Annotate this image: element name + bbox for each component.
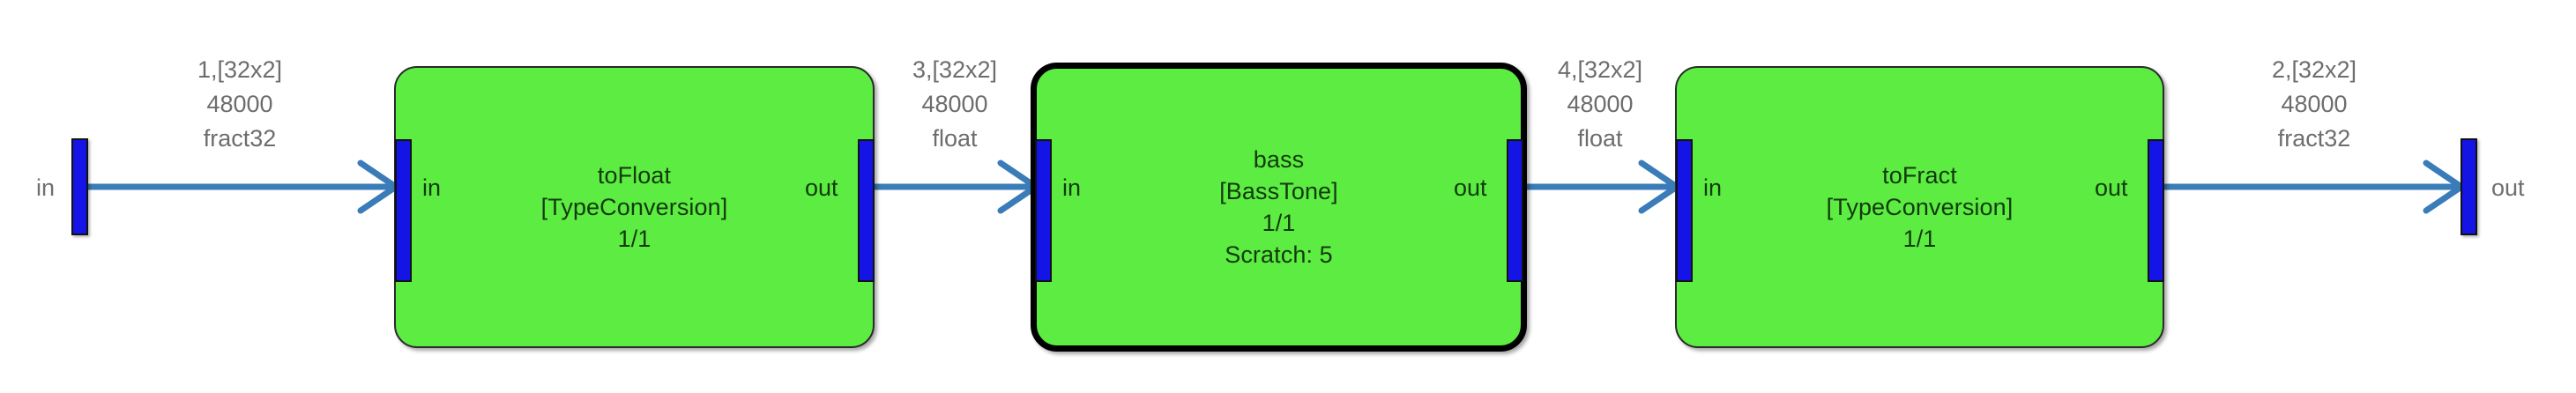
edge-label-1-line-1: 1,[32x2] — [197, 53, 282, 87]
block-bass[interactable]: bass [BassTone] 1/1 Scratch: 5 — [1031, 63, 1527, 352]
block-toFract-line-2: [TypeConversion] — [1827, 194, 2014, 220]
block-toFloat-line-2: [TypeConversion] — [541, 194, 728, 220]
edge-label-4: 4,[32x2] 48000 float — [1558, 53, 1642, 156]
block-toFloat-port-out[interactable] — [858, 139, 875, 282]
block-toFract-line-3: 1/1 — [1903, 226, 1937, 252]
block-bass-body: bass [BassTone] 1/1 Scratch: 5 — [1037, 69, 1521, 345]
edge-label-2: 2,[32x2] 48000 fract32 — [2272, 53, 2356, 156]
diagram-canvas: in 1,[32x2] 48000 fract32 toFloat [TypeC… — [0, 0, 2576, 393]
block-bass-port-in-label: in — [1062, 176, 1081, 200]
block-toFract[interactable]: toFract [TypeConversion] 1/1 — [1675, 66, 2164, 348]
block-toFract-port-out-label: out — [2095, 176, 2128, 200]
edge-label-1-line-2: 48000 — [197, 87, 282, 122]
edge-label-3-line-3: float — [912, 122, 997, 156]
block-bass-port-out-label: out — [1454, 176, 1487, 200]
block-toFract-port-in[interactable] — [1676, 139, 1693, 282]
block-bass-line-2: [BassTone] — [1219, 178, 1338, 204]
edge-label-2-line-2: 48000 — [2272, 87, 2356, 122]
block-toFloat-port-in[interactable] — [395, 139, 412, 282]
block-toFract-body: toFract [TypeConversion] 1/1 — [1677, 68, 2163, 346]
block-toFloat-body: toFloat [TypeConversion] 1/1 — [396, 68, 873, 346]
edge-label-1: 1,[32x2] 48000 fract32 — [197, 53, 282, 156]
edge-label-4-line-2: 48000 — [1558, 87, 1642, 122]
block-bass-port-out[interactable] — [1507, 139, 1523, 282]
external-port-in[interactable] — [71, 138, 88, 235]
external-port-out[interactable] — [2461, 138, 2477, 235]
block-toFract-port-in-label: in — [1703, 176, 1722, 200]
external-port-out-label: out — [2491, 176, 2525, 200]
block-toFract-port-out[interactable] — [2148, 139, 2164, 282]
edge-label-3-line-2: 48000 — [912, 87, 997, 122]
block-toFloat-line-3: 1/1 — [618, 226, 651, 252]
block-bass-line-1: bass — [1254, 146, 1304, 173]
edge-label-3: 3,[32x2] 48000 float — [912, 53, 997, 156]
block-bass-line-4: Scratch: 5 — [1225, 241, 1333, 268]
block-toFloat-line-1: toFloat — [598, 162, 671, 189]
block-bass-line-3: 1/1 — [1262, 210, 1296, 236]
block-toFract-line-1: toFract — [1882, 162, 1957, 189]
edge-label-4-line-3: float — [1558, 122, 1642, 156]
block-toFloat[interactable]: toFloat [TypeConversion] 1/1 — [394, 66, 875, 348]
edge-label-2-line-3: fract32 — [2272, 122, 2356, 156]
edge-label-4-line-1: 4,[32x2] — [1558, 53, 1642, 87]
edge-label-3-line-1: 3,[32x2] — [912, 53, 997, 87]
block-toFloat-port-out-label: out — [805, 176, 838, 200]
block-toFloat-port-in-label: in — [422, 176, 441, 200]
block-bass-port-in[interactable] — [1035, 139, 1052, 282]
edge-label-1-line-3: fract32 — [197, 122, 282, 156]
edge-label-2-line-1: 2,[32x2] — [2272, 53, 2356, 87]
external-port-in-label: in — [36, 176, 55, 200]
